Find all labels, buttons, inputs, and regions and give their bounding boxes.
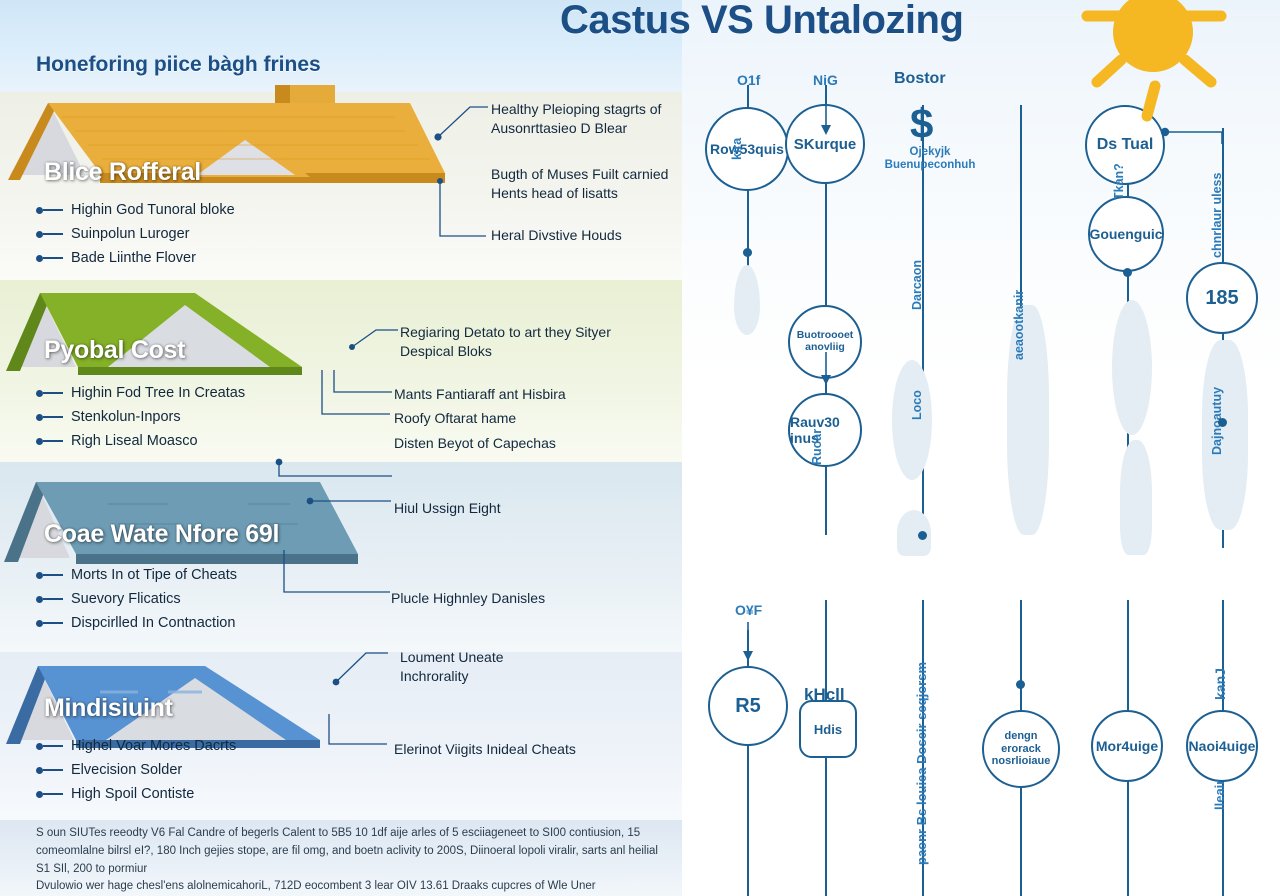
bullet-dash-icon (43, 233, 63, 235)
flow-endpoint-dot (918, 531, 927, 540)
flow-node-lcol4-1[interactable]: dengn erorack nosrlioiaue (982, 710, 1060, 788)
leader-line (318, 370, 398, 422)
bullet-list-4: Highel Voar Mores Dacrts Elvecision Sold… (36, 734, 236, 806)
bullet-label: Righ Liseal Moasco (71, 433, 198, 449)
bullet-label: Highin God Tunoral bloke (71, 202, 235, 218)
ghost-shape (1202, 340, 1248, 530)
flow-node-lcol2-1: kHcll (804, 685, 845, 705)
flow-vlabel-col6: chnrlaur uless (1210, 173, 1224, 258)
leader-line (330, 648, 394, 690)
callout-3a: Hiul Ussign Eight (394, 499, 501, 518)
flow-subtext-col3: Ojekyjk Buenupeconhuh (875, 146, 985, 172)
flow-vlabel-lcol3: paonr Bs louiea Doseir seqjorsm (914, 662, 929, 865)
flow-node-label: 185 (1205, 287, 1238, 310)
leader-line (325, 714, 393, 754)
bullet-list-1: Highin God Tunoral bloke Suinpolun Lurog… (36, 198, 235, 270)
callout-2c: Roofy Oftarat hame (394, 409, 516, 428)
bullet-label: Highin Fod Tree In Creatas (71, 385, 245, 401)
bullet-label: Suevory Flicatics (71, 591, 181, 607)
callout-1c: Heral Divstive Houds (491, 226, 622, 245)
sun-icon (1075, 0, 1255, 134)
roof-label-4: Mindisiuint (44, 694, 173, 723)
bullet-list-3: Morts In ot Tipe of Cheats Suevory Flica… (36, 563, 237, 635)
list-item: Righ Liseal Moasco (36, 429, 245, 453)
footer-paragraph-2: Dvulowio wer hage chesl'ens alolnemicaho… (36, 878, 666, 896)
bullet-dot-icon (36, 620, 43, 627)
leader-line (305, 492, 397, 512)
flow-node-lcol1-1[interactable]: R5 (708, 666, 788, 746)
bullet-label: Stenkolun-Inpors (71, 409, 181, 425)
bullet-dot-icon (36, 390, 43, 397)
bullet-dash-icon (43, 793, 63, 795)
bullet-list-2: Highin Fod Tree In Creatas Stenkolun-Inp… (36, 381, 245, 453)
flow-node-label: Hdis (814, 722, 842, 737)
callout-4b: Elerinot Viigits Inideal Cheats (394, 740, 576, 759)
dollar-symbol-icon: $ (910, 100, 933, 148)
bullet-dot-icon (36, 767, 43, 774)
flow-node-label: Rauv30 inus (790, 414, 860, 446)
bullet-label: Suinpolun Luroger (71, 226, 190, 242)
flow-node-label: Buotroooet anovliig (794, 330, 856, 353)
flow-header-col3: Bostor (894, 70, 946, 88)
ghost-shape (1120, 440, 1152, 555)
bullet-dot-icon (36, 207, 43, 214)
bullet-label: Highel Voar Mores Dacrts (71, 738, 236, 754)
flow-header-lcol1: O¥F (735, 602, 762, 618)
flow-node-col6-1[interactable]: 185 (1186, 262, 1258, 334)
flow-node-lcol5-1[interactable]: Mor4uige (1091, 710, 1163, 782)
arrow-down-icon (820, 98, 832, 141)
list-item: Morts In ot Tipe of Cheats (36, 563, 237, 587)
bullet-dash-icon (43, 257, 63, 259)
flow-header-col2: NiG (813, 72, 838, 88)
flow-node-col5-2[interactable]: Gouenguic (1088, 196, 1164, 272)
flow-node-col2-3[interactable]: Rauv30 inus (788, 393, 862, 467)
flow-vlabel-col5: Tkan? (1112, 163, 1126, 200)
flow-vlabel-lcol6b: lleair (1212, 780, 1227, 810)
bullet-dot-icon (36, 743, 43, 750)
arrow-down-icon (742, 622, 754, 667)
callout-2d: Disten Beyot of Capechas (394, 434, 556, 453)
bullet-dash-icon (43, 416, 63, 418)
flow-node-label: Mor4uige (1096, 738, 1158, 754)
left-panel: Blice Rofferal Pyobal Cost (0, 0, 682, 896)
list-item: Highin God Tunoral bloke (36, 198, 235, 222)
bullet-label: Bade Liinthe Flover (71, 250, 196, 266)
list-item: Bade Liinthe Flover (36, 246, 235, 270)
bullet-dot-icon (36, 438, 43, 445)
callout-4a: Loument Uneate Inchrorality (400, 648, 575, 685)
flow-node-label: Naoi4uige (1189, 738, 1256, 754)
flow-node-lcol6-1[interactable]: Naoi4uige (1186, 710, 1258, 782)
bullet-dot-icon (36, 596, 43, 603)
flow-node-lcol2-2[interactable]: Hdis (799, 700, 857, 758)
bullet-dot-icon (36, 255, 43, 262)
leader-line (346, 325, 406, 360)
bullet-dot-icon (36, 414, 43, 421)
flow-node-label: R5 (735, 695, 761, 718)
ghost-shape (1112, 300, 1152, 435)
flow-vlabel-col1: kira (730, 138, 744, 160)
roof-label-2: Pyobal Cost (44, 336, 185, 365)
flow-endpoint-dot (1016, 680, 1025, 689)
callout-1b: Bugth of Muses Fuilt carnied Hents head … (491, 165, 682, 202)
callout-2b: Mants Fantiaraff ant Hisbira (394, 385, 566, 404)
infographic-canvas: Blice Rofferal Pyobal Cost (0, 0, 1280, 896)
bullet-dot-icon (36, 231, 43, 238)
callout-2a: Regiaring Detato to art they Sityer Desp… (400, 323, 630, 360)
list-item: Suevory Flicatics (36, 587, 237, 611)
list-item: High Spoil Contiste (36, 782, 236, 806)
bullet-label: High Spoil Contiste (71, 786, 194, 802)
footer-paragraph-1: S oun SIUTes reeodty V6 Fal Candre of be… (36, 825, 666, 878)
leader-line (436, 180, 496, 242)
roof-label-3: Coae Wate Nfore 69l (44, 520, 279, 549)
list-item: Dispcirlled In Contnaction (36, 611, 237, 635)
flow-vlabel-col3: Darcaon (910, 260, 924, 310)
bullet-dash-icon (43, 392, 63, 394)
flow-node-label: dengn erorack nosrlioiaue (988, 730, 1054, 768)
bullet-label: Morts In ot Tipe of Cheats (71, 567, 237, 583)
leader-line (280, 550, 396, 600)
bullet-dash-icon (43, 745, 63, 747)
leader-line (274, 458, 398, 484)
list-item: Stenkolun-Inpors (36, 405, 245, 429)
leader-line (430, 95, 500, 150)
flow-vlabel-lcol6: kanJ (1212, 668, 1228, 700)
main-title: Castus VS Untalozing (560, 0, 1060, 43)
bullet-dash-icon (43, 769, 63, 771)
bullet-label: Dispcirlled In Contnaction (71, 615, 235, 631)
flow-endpoint-dot (1123, 268, 1132, 277)
arrow-down-icon (820, 352, 832, 391)
list-item: Elvecision Solder (36, 758, 236, 782)
flow-node-label: Ds Tual (1097, 136, 1154, 154)
bullet-dash-icon (43, 209, 63, 211)
bullet-dot-icon (36, 572, 43, 579)
ghost-shape (892, 360, 932, 480)
bullet-dash-icon (43, 598, 63, 600)
flow-vlabel-col2: Ruoar (810, 429, 824, 465)
flow-vlabel-col4: aeaootkanir (1012, 290, 1026, 360)
flow-header-col1: O1f (737, 72, 760, 88)
flow-node-col1-1[interactable]: Row53quis (705, 107, 789, 191)
flow-node-label: Gouenguic (1089, 226, 1162, 242)
flow-vlabel-col3b: Loco (910, 390, 924, 420)
flow-diagram-panel: O1f NiG Bostor Row53quis SKurque Buotroo… (682, 0, 1280, 896)
callout-3b: Plucle Highnley Danisles (391, 589, 545, 608)
flow-endpoint-dot (743, 248, 752, 257)
roof-label-1: Blice Rofferal (44, 158, 201, 187)
list-item: Suinpolun Luroger (36, 222, 235, 246)
bullet-dot-icon (36, 791, 43, 798)
bullet-dash-icon (43, 622, 63, 624)
list-item: Highin Fod Tree In Creatas (36, 381, 245, 405)
bullet-dash-icon (43, 440, 63, 442)
bullet-dash-icon (43, 574, 63, 576)
ghost-shape (734, 265, 760, 335)
flow-endpoint-dot (1218, 418, 1227, 427)
flow-node-label: Row53quis (710, 141, 784, 157)
page-title: Honeforing piice bàgh frines (36, 53, 321, 77)
callout-1a: Healthy Pleioping stagrts of Ausonrttasi… (491, 100, 676, 137)
bullet-label: Elvecision Solder (71, 762, 182, 778)
list-item: Highel Voar Mores Dacrts (36, 734, 236, 758)
